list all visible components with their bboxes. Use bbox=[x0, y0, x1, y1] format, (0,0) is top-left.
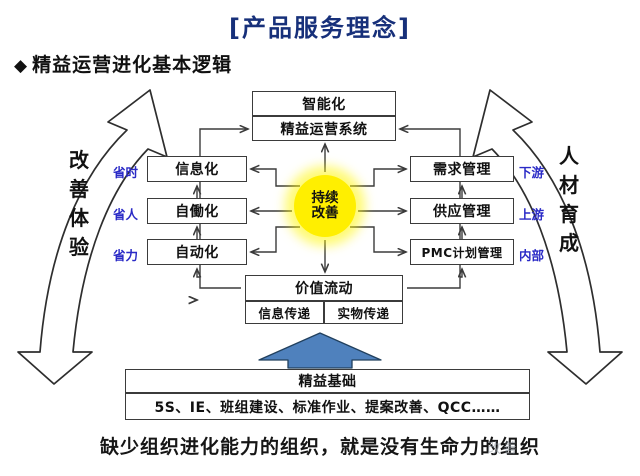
label-save-time: 省时 bbox=[113, 162, 138, 181]
label-save-people: 省人 bbox=[113, 204, 138, 223]
box-supply-management: 供应管理 bbox=[410, 198, 514, 224]
left-caption-char-4: 验 bbox=[66, 233, 92, 262]
label-internal: 内部 bbox=[519, 245, 544, 264]
section-subtitle: ◆精益运营进化基本逻辑 bbox=[14, 50, 232, 77]
right-caption-char-1: 人 bbox=[556, 142, 582, 171]
box-demand-management: 需求管理 bbox=[410, 156, 514, 182]
box-lean-operating-system: 精益运营系统 bbox=[252, 116, 396, 141]
right-caption-char-3: 育 bbox=[556, 200, 582, 229]
box-autonomation: 自働化 bbox=[147, 198, 247, 224]
circle-line-2: 改善 bbox=[312, 206, 339, 221]
arrow-center-to-automation bbox=[251, 227, 300, 252]
circle-line-1: 持续 bbox=[312, 191, 339, 206]
right-caption-char-4: 成 bbox=[556, 229, 582, 258]
diamond-bullet-icon: ◆ bbox=[14, 56, 28, 76]
right-growth-arrow bbox=[473, 90, 622, 384]
box-smart: 智能化 bbox=[252, 91, 396, 116]
left-caption-char-3: 体 bbox=[66, 204, 92, 233]
box-automation: 自动化 bbox=[147, 239, 247, 265]
continuous-improvement-circle: 持续 改善 bbox=[294, 175, 356, 237]
box-informatization: 信息化 bbox=[147, 156, 247, 182]
foundation-up-arrow bbox=[259, 333, 381, 368]
watermark-text: 改善 bbox=[487, 438, 519, 458]
left-caption-char-2: 善 bbox=[66, 175, 92, 204]
box-pmc-planning-management: PMC计划管理 bbox=[410, 239, 514, 265]
label-upstream: 上游 bbox=[519, 204, 544, 223]
arrow-center-to-demand-mgmt bbox=[350, 169, 406, 186]
label-save-labor: 省力 bbox=[113, 245, 138, 264]
left-side-caption: 改 善 体 验 bbox=[66, 146, 92, 262]
bottom-statement: 缺少组织进化能力的组织，就是没有生命力的组织 bbox=[0, 432, 640, 459]
slide-canvas: [产品服务理念] ◆精益运营进化基本逻辑 改 善 体 验 人 材 育 成 智能化… bbox=[0, 0, 640, 476]
arrow-center-to-pmc-mgmt bbox=[350, 227, 406, 252]
page-title: [产品服务理念] bbox=[0, 8, 640, 43]
box-lean-foundation-items: 5S、IE、班组建设、标准作业、提案改善、QCC…… bbox=[125, 393, 530, 420]
box-value-flow: 价值流动 bbox=[245, 275, 403, 301]
left-growth-arrow bbox=[18, 90, 167, 384]
right-caption-char-2: 材 bbox=[556, 171, 582, 200]
left-caption-char-1: 改 bbox=[66, 146, 92, 175]
arrow-center-to-informatization bbox=[251, 169, 300, 186]
box-lean-foundation-title: 精益基础 bbox=[125, 369, 530, 393]
right-side-caption: 人 材 育 成 bbox=[556, 142, 582, 258]
box-information-transfer: 信息传递 bbox=[245, 301, 324, 324]
section-subtitle-text: 精益运营进化基本逻辑 bbox=[32, 54, 232, 76]
box-goods-transfer: 实物传递 bbox=[324, 301, 403, 324]
label-downstream: 下游 bbox=[519, 162, 544, 181]
